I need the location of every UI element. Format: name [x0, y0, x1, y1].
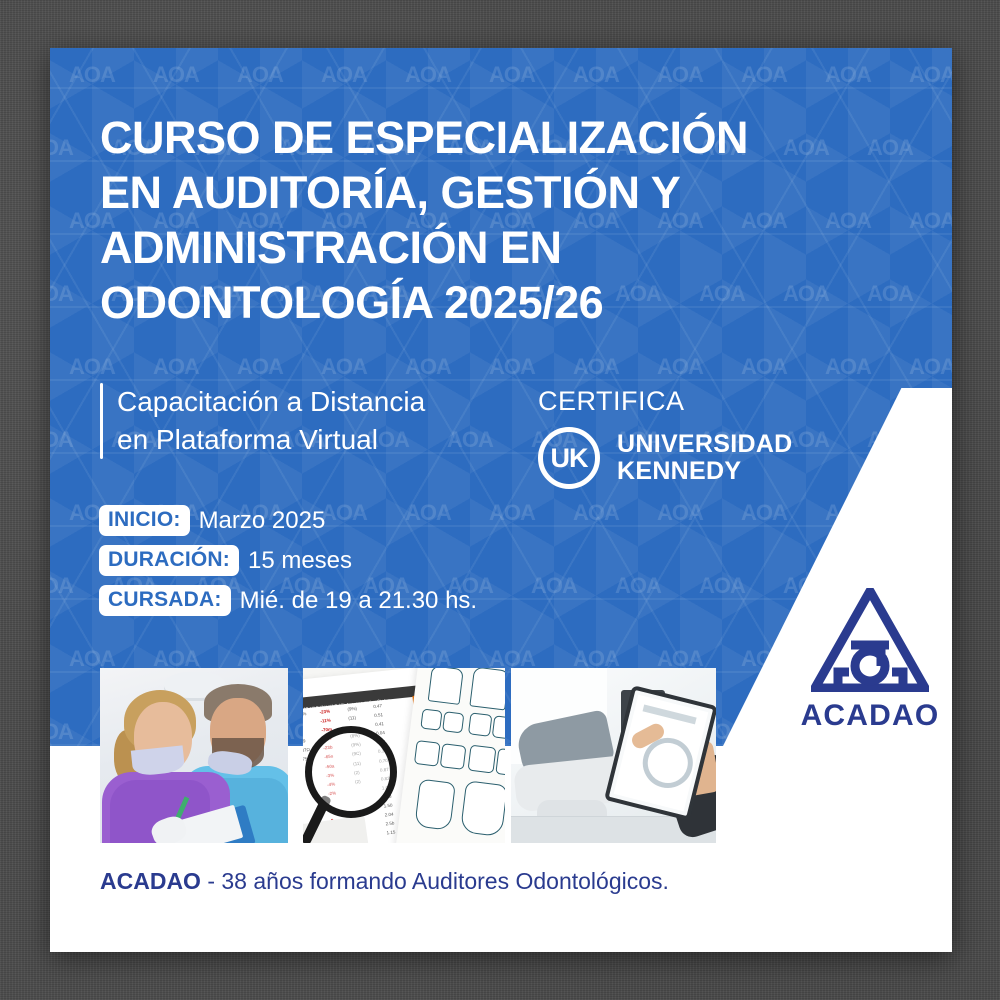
- aoa-watermark: AOA: [134, 48, 218, 111]
- aoa-watermark: AOA: [554, 48, 638, 111]
- university-name-line-2: KENNEDY: [617, 458, 793, 485]
- page-title-line-4: ODONTOLOGÍA 2025/26: [100, 275, 800, 330]
- footer-rest: - 38 años formando Auditores Odontológic…: [201, 868, 669, 894]
- aoa-triangle-icon: [811, 588, 929, 692]
- certifica-label: CERTIFICA: [538, 386, 793, 417]
- footer-brand: ACADAO: [100, 868, 201, 894]
- aoa-watermark: AOA: [848, 111, 932, 184]
- aoa-watermark: AOA: [680, 549, 764, 622]
- aoa-watermark: AOA: [50, 111, 92, 184]
- detail-label-3: CURSADA:: [99, 585, 231, 616]
- aoa-watermark: AOA: [218, 48, 302, 111]
- subtitle-line-2: en Plataforma Virtual: [117, 421, 425, 459]
- subtitle-accent-bar: [100, 383, 103, 459]
- photo-dental-team: [100, 668, 288, 843]
- detail-row-2: DURACIÓN:15 meses: [99, 545, 477, 576]
- page-title: CURSO DE ESPECIALIZACIÓNEN AUDITORÍA, GE…: [100, 110, 800, 330]
- subtitle-line-1: Capacitación a Distancia: [117, 383, 425, 421]
- detail-label-2: DURACIÓN:: [99, 545, 239, 576]
- aoa-watermark: AOA: [806, 48, 890, 111]
- aoa-watermark: AOA: [848, 257, 932, 330]
- detail-row-3: CURSADA:Mié. de 19 a 21.30 hs.: [99, 585, 477, 616]
- photo-audit-sheet: FMC VAC (%) VAC (S) Average Index Status…: [303, 668, 505, 843]
- university-name-line-1: UNIVERSIDAD: [617, 431, 793, 458]
- photo-chair-tablet: [511, 668, 716, 843]
- magnifier-icon: [305, 726, 397, 818]
- aoa-watermark: AOA: [932, 257, 952, 330]
- aoa-watermark: AOA: [512, 549, 596, 622]
- aoa-watermark: AOA: [722, 48, 806, 111]
- detail-row-1: INICIO:Marzo 2025: [99, 505, 477, 536]
- aoa-watermark: AOA: [50, 48, 134, 111]
- aoa-watermark: AOA: [50, 403, 92, 476]
- aoa-watermark: AOA: [50, 549, 92, 622]
- aoa-watermark: AOA: [302, 48, 386, 111]
- aoa-watermark: AOA: [470, 48, 554, 111]
- course-poster: AOAAOAAOAAOAAOAAOAAOAAOAAOAAOAAOAAOAAOAA…: [50, 48, 952, 952]
- detail-value-1: Marzo 2025: [199, 507, 326, 535]
- subtitle-text: Capacitación a Distanciaen Plataforma Vi…: [117, 383, 425, 459]
- footer-tagline: ACADAO - 38 años formando Auditores Odon…: [100, 868, 669, 895]
- aoa-watermark: AOA: [932, 111, 952, 184]
- aoa-watermark: AOA: [890, 184, 952, 257]
- detail-label-1: INICIO:: [99, 505, 190, 536]
- acadao-wordmark: ACADAO: [785, 699, 952, 733]
- page-title-line-2: EN AUDITORÍA, GESTIÓN Y: [100, 165, 800, 220]
- aoa-watermark: AOA: [890, 48, 952, 111]
- university-name: UNIVERSIDAD KENNEDY: [617, 431, 793, 485]
- aoa-watermark: AOA: [50, 257, 92, 330]
- aoa-watermark: AOA: [386, 48, 470, 111]
- aoa-watermark: AOA: [596, 549, 680, 622]
- university-logo: UK UNIVERSIDAD KENNEDY: [538, 427, 793, 489]
- aoa-watermark: AOA: [638, 48, 722, 111]
- aoa-watermark: AOA: [806, 330, 890, 403]
- detail-value-2: 15 meses: [248, 547, 352, 575]
- page-title-line-3: ADMINISTRACIÓN EN: [100, 220, 800, 275]
- certifica-block: CERTIFICA UK UNIVERSIDAD KENNEDY: [538, 386, 793, 489]
- aoa-watermark: AOA: [428, 403, 512, 476]
- aoa-watermark: AOA: [806, 184, 890, 257]
- acadao-logo: ACADAO: [785, 588, 952, 733]
- course-details-list: INICIO:Marzo 2025DURACIÓN:15 mesesCURSAD…: [99, 505, 477, 625]
- subtitle-block: Capacitación a Distanciaen Plataforma Vi…: [100, 383, 425, 459]
- detail-value-3: Mié. de 19 a 21.30 hs.: [240, 587, 478, 615]
- page-title-line-1: CURSO DE ESPECIALIZACIÓN: [100, 110, 800, 165]
- uk-badge-icon: UK: [538, 427, 600, 489]
- aoa-watermark: AOA: [50, 695, 92, 746]
